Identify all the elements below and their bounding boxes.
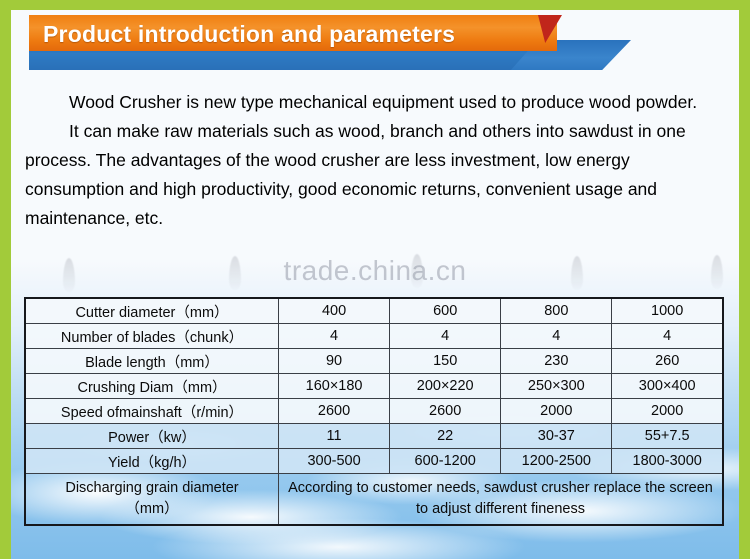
spec-value: 230 (501, 349, 612, 374)
spec-value: 600 (390, 298, 501, 324)
spec-value: 22 (390, 424, 501, 449)
table-row: Blade length（mm） 90 150 230 260 (25, 349, 723, 374)
intro-text-block: Wood Crusher is new type mechanical equi… (25, 88, 725, 233)
table-row: Yield（kg/h） 300-500 600-1200 1200-2500 1… (25, 449, 723, 474)
spec-value: 4 (390, 324, 501, 349)
spec-value: 300-500 (279, 449, 390, 474)
spec-label: Number of blades（chunk） (25, 324, 279, 349)
spec-value: 1000 (612, 298, 723, 324)
table-row-discharging: Discharging grain diameter （mm） Accordin… (25, 474, 723, 526)
spec-label: Cutter diameter（mm） (25, 298, 279, 324)
spec-value: 90 (279, 349, 390, 374)
page-title: Product introduction and parameters (43, 16, 455, 52)
spec-value: 2600 (390, 399, 501, 424)
spec-value: 1200-2500 (501, 449, 612, 474)
spec-value: 2000 (612, 399, 723, 424)
spec-value: 2000 (501, 399, 612, 424)
spec-value: 4 (279, 324, 390, 349)
spec-value: 55+7.5 (612, 424, 723, 449)
discharging-label: Discharging grain diameter （mm） (25, 474, 279, 526)
spec-value: 4 (612, 324, 723, 349)
spec-value: 260 (612, 349, 723, 374)
table-row: Number of blades（chunk） 4 4 4 4 (25, 324, 723, 349)
intro-paragraph-2: It can make raw materials such as wood, … (25, 117, 725, 233)
discharging-value: According to customer needs, sawdust cru… (279, 474, 724, 526)
spec-value: 600-1200 (390, 449, 501, 474)
spec-value: 250×300 (501, 374, 612, 399)
spec-label: Yield（kg/h） (25, 449, 279, 474)
spec-value: 800 (501, 298, 612, 324)
intro-paragraph-1: Wood Crusher is new type mechanical equi… (25, 88, 725, 117)
header-banner: Product introduction and parameters (11, 10, 739, 82)
spec-value: 200×220 (390, 374, 501, 399)
slide-frame: Product introduction and parameters Wood… (0, 0, 750, 559)
spec-label: Power（kw） (25, 424, 279, 449)
spec-value: 2600 (279, 399, 390, 424)
spec-value: 30-37 (501, 424, 612, 449)
table-row: Cutter diameter（mm） 400 600 800 1000 (25, 298, 723, 324)
specification-table: Cutter diameter（mm） 400 600 800 1000 Num… (24, 297, 724, 526)
specification-table-body: Cutter diameter（mm） 400 600 800 1000 Num… (25, 298, 723, 525)
spec-label: Speed ofmainshaft（r/min） (25, 399, 279, 424)
spec-value: 160×180 (279, 374, 390, 399)
discharging-label-line-2: （mm） (125, 501, 178, 517)
spec-value: 11 (279, 424, 390, 449)
spec-value: 300×400 (612, 374, 723, 399)
discharging-label-line-1: Discharging grain diameter (65, 480, 238, 496)
table-row: Speed ofmainshaft（r/min） 2600 2600 2000 … (25, 399, 723, 424)
spec-value: 150 (390, 349, 501, 374)
table-row: Power（kw） 11 22 30-37 55+7.5 (25, 424, 723, 449)
spec-label: Blade length（mm） (25, 349, 279, 374)
table-row: Crushing Diam（mm） 160×180 200×220 250×30… (25, 374, 723, 399)
spec-value: 1800-3000 (612, 449, 723, 474)
spec-value: 4 (501, 324, 612, 349)
slide-canvas: Product introduction and parameters Wood… (11, 10, 739, 559)
spec-value: 400 (279, 298, 390, 324)
spec-label: Crushing Diam（mm） (25, 374, 279, 399)
